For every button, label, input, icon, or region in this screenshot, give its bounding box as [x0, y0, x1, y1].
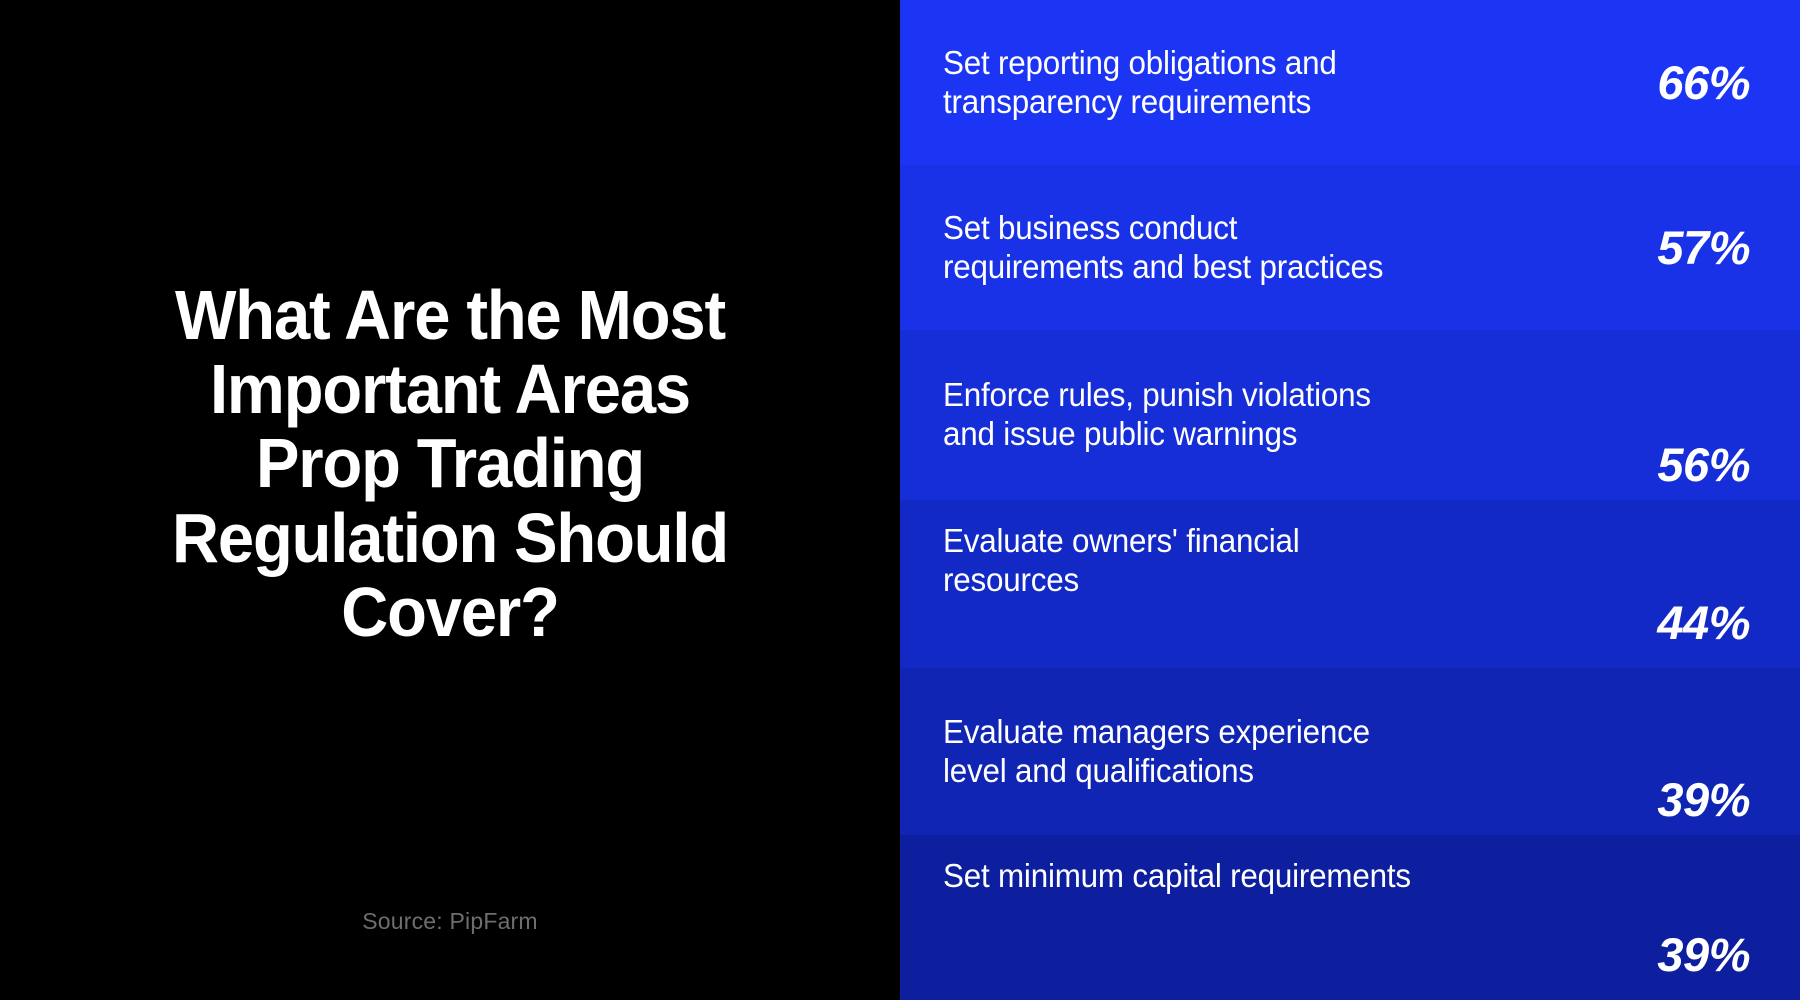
- bar-value: 39%: [1610, 772, 1750, 827]
- infographic-canvas: What Are the Most Important Areas Prop T…: [0, 0, 1800, 1000]
- bar-label: Set business conduct requirements and be…: [943, 209, 1577, 286]
- bar-list: Set reporting obligations and transparen…: [900, 0, 1800, 1000]
- bar-value: 57%: [1610, 220, 1750, 275]
- title-panel: What Are the Most Important Areas Prop T…: [0, 0, 900, 1000]
- bar-label: Set minimum capital requirements: [943, 857, 1577, 896]
- bar-row: Set minimum capital requirements 39%: [900, 835, 1800, 1000]
- bar-value: 39%: [1610, 927, 1750, 982]
- title-block: What Are the Most Important Areas Prop T…: [70, 278, 830, 649]
- bar-row: Evaluate owners' financial resources 44%: [900, 500, 1800, 668]
- page-title: What Are the Most Important Areas Prop T…: [97, 278, 804, 649]
- bar-row: Evaluate managers experience level and q…: [900, 668, 1800, 835]
- bar-value: 44%: [1610, 595, 1750, 650]
- bar-value: 56%: [1610, 437, 1750, 492]
- bar-row: Set reporting obligations and transparen…: [900, 0, 1800, 165]
- bar-row: Set business conduct requirements and be…: [900, 165, 1800, 330]
- bar-label: Evaluate managers experience level and q…: [943, 713, 1577, 790]
- bar-label: Evaluate owners' financial resources: [943, 522, 1577, 599]
- bar-row: Enforce rules, punish violations and iss…: [900, 330, 1800, 500]
- bar-label: Set reporting obligations and transparen…: [943, 44, 1577, 121]
- bar-value: 66%: [1610, 55, 1750, 110]
- source-attribution: Source: PipFarm: [0, 908, 900, 935]
- bar-label: Enforce rules, punish violations and iss…: [943, 376, 1577, 453]
